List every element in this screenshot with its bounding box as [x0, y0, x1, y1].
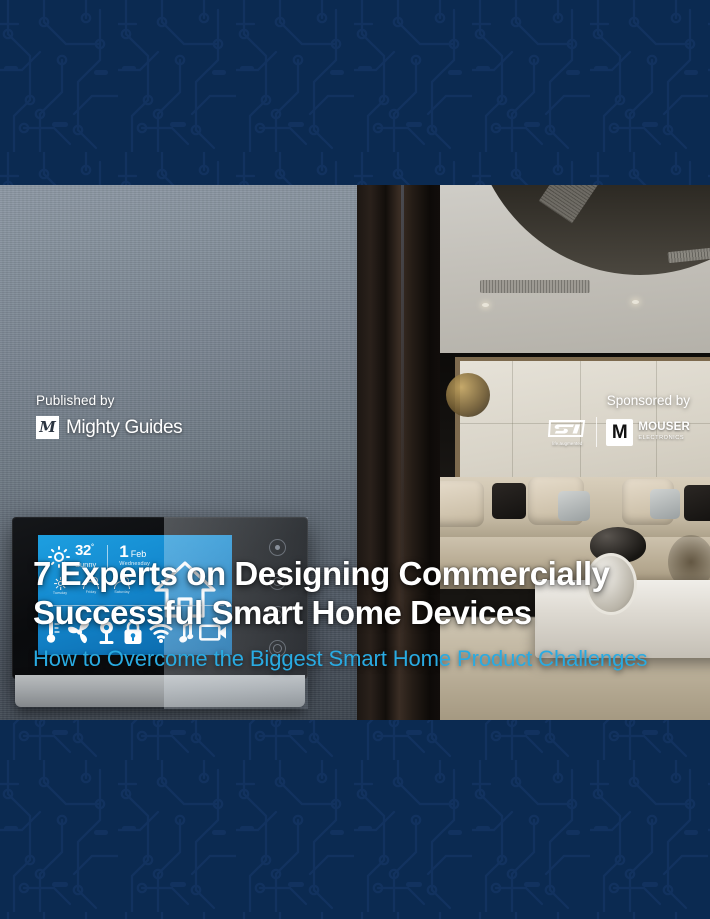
sponsor-block: Sponsored by life.augmented M MOUSER E	[547, 393, 690, 447]
throw-pillow	[684, 485, 710, 521]
power-button-icon[interactable]	[269, 539, 286, 556]
sponsor-logos: life.augmented M MOUSER ELECTRONICS	[547, 417, 690, 447]
published-by-label: Published by	[36, 393, 182, 408]
floor-lamp	[446, 373, 490, 417]
publisher-name: Mighty Guides	[66, 417, 182, 439]
sponsored-by-label: Sponsored by	[547, 393, 690, 408]
title-line-2: Successful Smart Home Devices	[33, 594, 692, 633]
publisher-block: Published by M Mighty Guides	[36, 393, 182, 439]
mighty-guides-mark-icon: M	[36, 416, 59, 439]
ceiling-vent	[480, 280, 590, 293]
mouser-subtitle: ELECTRONICS	[638, 436, 690, 442]
throw-pillow	[650, 489, 680, 519]
title-line-1: 7 Experts on Designing Commercially	[33, 555, 692, 594]
main-title: 7 Experts on Designing Commercially Succ…	[33, 555, 692, 633]
mouser-sponsor-logo[interactable]: M MOUSER ELECTRONICS	[606, 419, 690, 446]
subtitle: How to Overcome the Biggest Smart Home P…	[33, 646, 692, 672]
downlight	[482, 303, 489, 307]
logo-divider	[596, 417, 597, 447]
title-block: 7 Experts on Designing Commercially Succ…	[33, 555, 692, 672]
cover-hero-image: 32° Sunny 1 Feb Wednesday	[0, 185, 710, 720]
throw-pillow	[492, 483, 526, 519]
panel-base	[15, 675, 305, 707]
mouser-mark-icon: M	[606, 419, 633, 446]
st-logo-icon	[547, 418, 587, 440]
ebook-cover-page: 32° Sunny 1 Feb Wednesday	[0, 0, 710, 919]
st-sponsor-logo[interactable]: life.augmented	[547, 418, 587, 446]
mighty-guides-logo[interactable]: M Mighty Guides	[36, 416, 182, 439]
mouser-name: MOUSER	[638, 422, 690, 434]
downlight	[632, 300, 639, 304]
sofa-cushion	[440, 481, 484, 527]
throw-pillow	[558, 491, 590, 521]
st-tagline: life.augmented	[552, 441, 582, 446]
